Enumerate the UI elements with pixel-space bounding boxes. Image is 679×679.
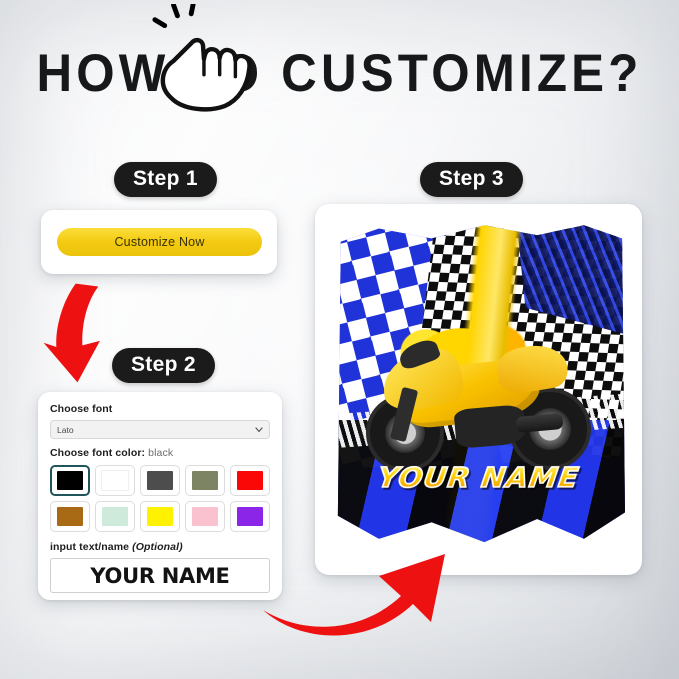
step-3-card: YOUR NAME [315,204,642,575]
page-title: HOW TO CUSTOMIZE? [24,47,655,100]
color-swatch-grid [50,465,270,532]
input-text-label-text: input text/name [50,541,129,553]
choose-font-color-text: Choose font color: [50,447,145,459]
color-swatch-brown[interactable] [50,501,90,532]
step-1-card: Customize Now [41,210,277,274]
infographic-canvas: HOW TO CUSTOMIZE? Step 1 Customize Now S… [0,0,679,679]
input-text-optional-text: (Optional) [132,541,183,553]
selected-color-value: black [148,447,173,459]
font-select-value: Lato [57,425,74,435]
chevron-down-icon [255,427,263,433]
choose-font-color-label: Choose font color: black [50,447,270,459]
color-swatch-white[interactable] [95,465,135,496]
color-swatch-yellow[interactable] [140,501,180,532]
color-swatch-sage-green[interactable] [185,465,225,496]
arrow-step2-to-step3 [255,540,455,650]
product-preview: YOUR NAME [332,222,625,558]
color-swatch-dark-gray[interactable] [140,465,180,496]
blanket-name-text: YOUR NAME [332,463,625,494]
blanket-artwork: YOUR NAME [332,222,625,552]
name-text-input[interactable]: YOUR NAME [50,558,270,593]
color-swatch-red[interactable] [230,465,270,496]
input-text-label: input text/name (Optional) [50,541,270,553]
color-swatch-black[interactable] [50,465,90,496]
bike-tail [494,341,570,396]
step-2-badge: Step 2 [112,348,215,383]
step-3-badge: Step 3 [420,162,523,197]
color-swatch-pink[interactable] [185,501,225,532]
color-swatch-purple[interactable] [230,501,270,532]
choose-font-label: Choose font [50,403,270,415]
color-swatch-mint[interactable] [95,501,135,532]
step-2-card: Choose font Lato Choose font color: blac… [38,392,282,600]
customize-now-button[interactable]: Customize Now [57,228,262,256]
font-select[interactable]: Lato [50,420,270,439]
step-1-badge: Step 1 [114,162,217,197]
